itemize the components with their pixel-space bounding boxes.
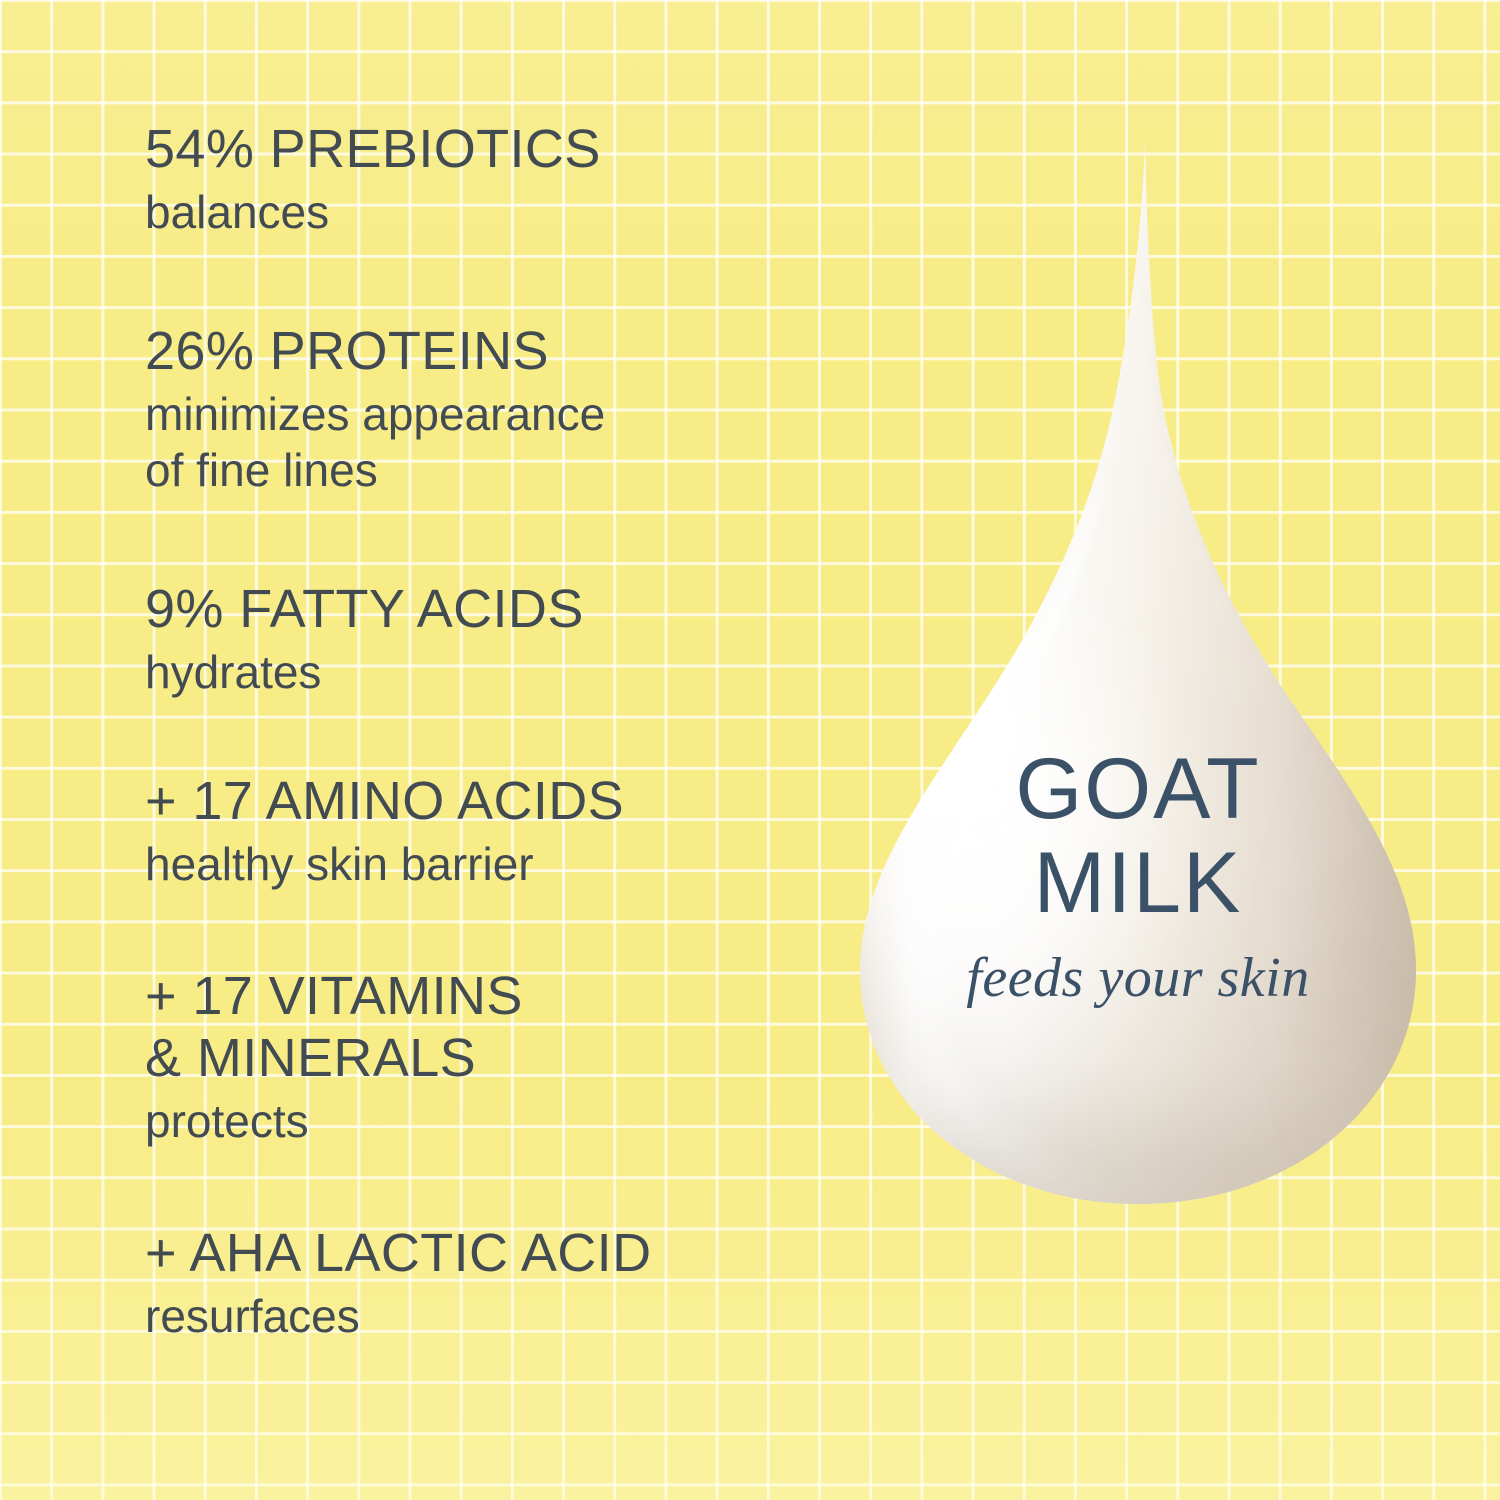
benefit-headline-line: & MINERALS <box>145 1027 875 1089</box>
benefit-description-line: minimizes appearance <box>145 386 875 442</box>
benefit-item-vitamins-minerals: + 17 VITAMINS & MINERALS protects <box>145 965 875 1149</box>
benefit-description: balances <box>145 184 875 240</box>
benefit-item-aha-lactic-acid: + AHA LACTIC ACID resurfaces <box>145 1222 875 1344</box>
benefits-list: 54% PREBIOTICS balances 26% PROTEINS min… <box>145 0 875 1500</box>
benefit-description: protects <box>145 1093 875 1149</box>
benefit-headline: 9% FATTY ACIDS <box>145 578 875 640</box>
benefit-item-amino-acids: + 17 AMINO ACIDS healthy skin barrier <box>145 770 875 892</box>
benefit-item-prebiotics: 54% PREBIOTICS balances <box>145 118 875 240</box>
benefit-description-line: of fine lines <box>145 442 875 498</box>
poster-canvas: 54% PREBIOTICS balances 26% PROTEINS min… <box>0 0 1500 1500</box>
milk-droplet-icon <box>838 140 1438 1215</box>
benefit-description: minimizes appearance of fine lines <box>145 386 875 498</box>
benefit-headline: + 17 VITAMINS & MINERALS <box>145 965 875 1089</box>
benefit-description: resurfaces <box>145 1288 875 1344</box>
benefit-headline-line: + 17 VITAMINS <box>145 965 875 1027</box>
benefit-description: healthy skin barrier <box>145 836 875 892</box>
benefit-headline: + AHA LACTIC ACID <box>145 1222 875 1284</box>
benefit-item-fatty-acids: 9% FATTY ACIDS hydrates <box>145 578 875 700</box>
benefit-headline: 26% PROTEINS <box>145 320 875 382</box>
benefit-description: hydrates <box>145 644 875 700</box>
benefit-headline: + 17 AMINO ACIDS <box>145 770 875 832</box>
benefit-item-proteins: 26% PROTEINS minimizes appearance of fin… <box>145 320 875 498</box>
droplet-body <box>813 140 1500 1244</box>
benefit-headline: 54% PREBIOTICS <box>145 118 875 180</box>
